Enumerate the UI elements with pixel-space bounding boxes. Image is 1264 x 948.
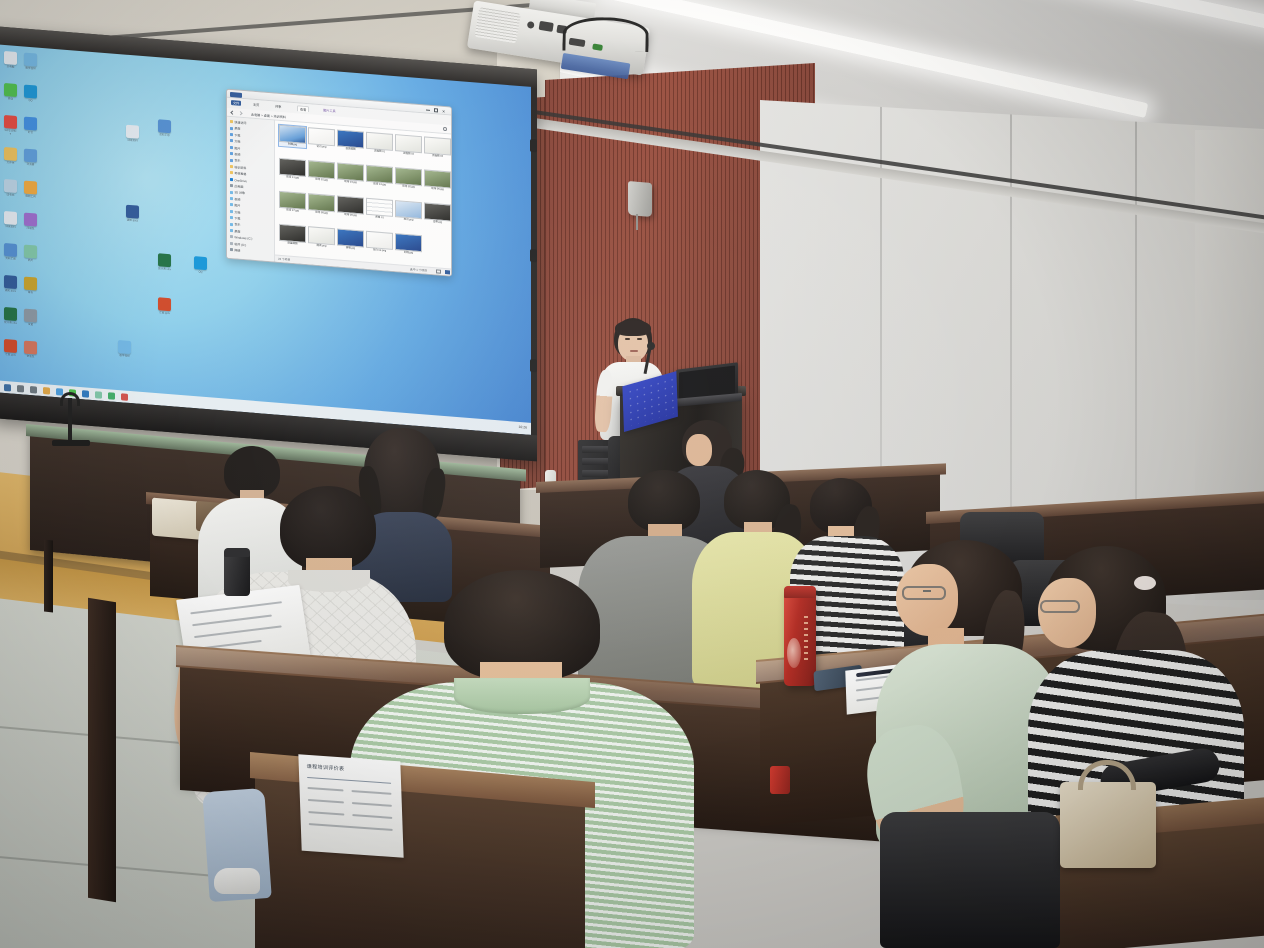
media-icon[interactable] bbox=[121, 393, 128, 401]
wall-speaker bbox=[628, 181, 652, 217]
desktop-icon-label: 此电脑 bbox=[4, 65, 17, 69]
nav-item-label: 网络 bbox=[234, 248, 240, 252]
desktop-icon-glyph bbox=[126, 125, 139, 139]
file-thumbnail bbox=[308, 127, 335, 146]
folder-icon bbox=[230, 139, 233, 142]
folder-icon bbox=[230, 184, 233, 187]
desktop-icon-glyph bbox=[24, 245, 37, 259]
desktop-icon-label: 微信 bbox=[4, 97, 17, 101]
folder-icon bbox=[230, 222, 233, 225]
file-tile[interactable]: 合影.jpg bbox=[424, 202, 451, 225]
desktop-icon-label: 照片 bbox=[24, 259, 37, 263]
search-icon[interactable] bbox=[17, 384, 24, 392]
folder-icon bbox=[230, 171, 233, 174]
nav-item-label: 文档 bbox=[234, 210, 240, 214]
desktop-icon-glyph bbox=[4, 51, 17, 65]
nav-item-label: 音乐 bbox=[234, 159, 240, 163]
thermos-pattern bbox=[804, 616, 808, 662]
file-tile[interactable]: 标识.png bbox=[395, 200, 422, 223]
nav-item-label: 考核表格 bbox=[234, 171, 246, 176]
desktop-icon-label: 安装包 bbox=[24, 355, 37, 359]
desktop-icon-label: 汇报.pptx bbox=[4, 353, 17, 357]
nav-item-label: 视频 bbox=[234, 197, 240, 201]
file-tile[interactable]: 首页截图 bbox=[337, 129, 364, 152]
tab-picture-tools[interactable]: 图片工具 bbox=[323, 107, 336, 113]
tab-home[interactable]: 主页 bbox=[253, 101, 259, 107]
file-thumbnail bbox=[308, 160, 335, 179]
file-thumbnail bbox=[279, 224, 306, 243]
desktop-icon-label: 教学视频 bbox=[24, 67, 37, 71]
folder-icon bbox=[230, 210, 233, 213]
nav-item[interactable]: 下载 bbox=[230, 133, 240, 138]
nav-item-label: 图片 bbox=[234, 146, 240, 150]
desktop-icon-glyph bbox=[158, 253, 171, 267]
desktop-icon[interactable]: 设置 bbox=[24, 309, 37, 327]
file-thumbnail bbox=[308, 226, 335, 245]
nav-item-label: 桌面 bbox=[234, 127, 240, 131]
handout-title: 课程培训评价表 bbox=[307, 763, 345, 773]
file-thumbnail bbox=[279, 125, 306, 144]
handout-document[interactable]: 课程培训评价表 bbox=[298, 754, 403, 857]
desktop-icon[interactable]: 此电脑 bbox=[4, 51, 17, 69]
desktop-icon-label: 统计表.xlsx bbox=[4, 321, 17, 325]
folder-icon bbox=[230, 152, 233, 155]
nav-item-label: 视频 bbox=[234, 152, 240, 156]
desktop-icon-glyph bbox=[24, 341, 37, 355]
nav-item[interactable]: 3D 对象 bbox=[230, 190, 245, 195]
desktop-icon-glyph bbox=[4, 115, 17, 129]
screen-side-clip bbox=[530, 249, 537, 263]
minimize-icon[interactable] bbox=[426, 109, 430, 110]
security-icon[interactable] bbox=[108, 392, 115, 400]
back-arrow-icon[interactable] bbox=[230, 110, 234, 114]
start-icon[interactable] bbox=[4, 383, 11, 391]
file-thumbnail bbox=[366, 132, 393, 151]
file-explorer-icon[interactable] bbox=[43, 387, 50, 395]
nav-item[interactable]: 网络 bbox=[230, 248, 240, 253]
folder-icon bbox=[230, 178, 233, 181]
desktop-icon-glyph bbox=[24, 149, 37, 163]
desktop-icon[interactable]: 通知.docx bbox=[4, 275, 17, 293]
lecture-hall-scene: 此电脑微信WPS Office文件夹回收站训练资料资料汇总通知.docx统计表.… bbox=[0, 0, 1264, 948]
nav-item[interactable]: 文档 bbox=[230, 139, 240, 144]
file-tile[interactable]: 图表.png bbox=[308, 226, 335, 249]
desktop-icon-glyph bbox=[158, 297, 171, 311]
tab-file[interactable]: 文件 bbox=[231, 100, 241, 106]
desktop-icon-glyph bbox=[24, 277, 37, 291]
nav-item-label: OneDrive bbox=[234, 178, 247, 183]
file-tile[interactable]: 封底.jpg bbox=[395, 233, 422, 256]
file-tile[interactable]: 空白 02.png bbox=[366, 231, 393, 254]
file-tile[interactable]: 现场 05.jpg bbox=[395, 167, 422, 190]
file-thumbnail bbox=[337, 129, 364, 148]
file-tile[interactable]: 屏幕截图 bbox=[279, 224, 306, 247]
screen-side-clip bbox=[530, 139, 537, 153]
nav-item[interactable]: 软件 (D:) bbox=[230, 242, 246, 247]
projector-cable bbox=[562, 17, 649, 52]
nav-item[interactable]: 快速访问 bbox=[230, 120, 246, 125]
desktop-icon-label: 截图工具 bbox=[24, 195, 37, 199]
file-tile[interactable]: 空白.png bbox=[308, 127, 335, 150]
file-explorer-window[interactable]: ✕ 文件 主页 共享 查看 图片工具 此电脑 > 桌面 > 培训资料 快速访问桌… bbox=[226, 89, 452, 277]
hair-tie-icon bbox=[1134, 576, 1156, 590]
lectern-microphone-icon bbox=[647, 342, 655, 350]
desktop-icon[interactable]: 截图工具 bbox=[24, 181, 37, 199]
navigation-pane[interactable]: 快速访问桌面下载文档图片视频音乐培训资料考核表格OneDrive此电脑3D 对象… bbox=[227, 117, 275, 264]
attendee-collar bbox=[454, 678, 590, 714]
microphone-base bbox=[52, 440, 90, 446]
desktop-icon[interactable]: 回收站 bbox=[4, 179, 17, 197]
desktop-icon-glyph bbox=[4, 83, 17, 97]
file-tile[interactable]: 现场 06.jpg bbox=[424, 169, 451, 192]
nav-item[interactable]: 音乐 bbox=[230, 158, 240, 163]
nav-item[interactable]: 音乐 bbox=[230, 222, 240, 227]
attendee-face bbox=[896, 564, 958, 636]
file-tile[interactable]: 流程图 02 bbox=[395, 134, 422, 157]
desktop-icon[interactable]: 钉钉 bbox=[24, 117, 37, 135]
file-tile[interactable]: 现场 07.jpg bbox=[279, 191, 306, 214]
attendee-face bbox=[1038, 578, 1096, 648]
tab-share[interactable]: 共享 bbox=[275, 103, 281, 109]
desktop-icon-label: 压缩包 bbox=[24, 227, 37, 231]
file-tile[interactable]: 流程图 03 bbox=[424, 136, 451, 159]
file-thumbnail bbox=[366, 198, 393, 217]
desktop-icon-label: 训练资料 bbox=[126, 139, 139, 143]
folder-icon bbox=[230, 120, 233, 123]
eyeglasses-bridge bbox=[923, 590, 931, 592]
tab-view[interactable]: 查看 bbox=[297, 105, 309, 112]
desktop-icon-glyph bbox=[4, 147, 17, 161]
file-thumbnail bbox=[366, 231, 393, 250]
nav-item[interactable]: 图片 bbox=[230, 203, 240, 208]
file-thumbnail bbox=[424, 136, 451, 155]
desktop-icon-label: QQ bbox=[194, 270, 207, 274]
nav-item-label: 下载 bbox=[234, 216, 240, 220]
file-tile[interactable]: 表格 01 bbox=[366, 198, 393, 221]
desktop-icon-glyph bbox=[4, 243, 17, 257]
desktop-icon-label: 通知.docx bbox=[4, 289, 17, 293]
desktop-icon[interactable]: 照片 bbox=[24, 245, 37, 263]
mail-icon[interactable] bbox=[82, 390, 89, 398]
desktop-icon-glyph bbox=[24, 181, 37, 195]
desktop-icon-label: 浏览器 bbox=[24, 163, 37, 167]
file-thumbnail bbox=[424, 202, 451, 221]
desktop-icon[interactable]: 汇报.pptx bbox=[158, 297, 171, 315]
folder-icon bbox=[230, 229, 233, 232]
nav-item[interactable]: 文档 bbox=[230, 210, 240, 215]
screen-side-clip bbox=[530, 359, 537, 373]
nav-item-label: Windows (C:) bbox=[234, 235, 252, 240]
desktop-icon-label: 文件夹 bbox=[4, 161, 17, 165]
desktop-icon[interactable]: 通知.docx bbox=[126, 205, 139, 223]
projector-vent-icon bbox=[475, 7, 521, 43]
nav-item[interactable]: Windows (C:) bbox=[230, 235, 252, 241]
file-thumbnail bbox=[395, 134, 422, 153]
close-icon[interactable]: ✕ bbox=[442, 108, 447, 113]
desktop-icon[interactable]: 教学视频 bbox=[118, 340, 131, 358]
file-thumbnail bbox=[424, 169, 451, 188]
folder-icon bbox=[230, 235, 233, 238]
desktop-icon[interactable]: 安装包 bbox=[24, 341, 37, 359]
status-selection: 选中 1 个项目 bbox=[410, 268, 427, 273]
details-view-icon[interactable] bbox=[436, 270, 441, 274]
presenter-eye bbox=[625, 338, 630, 340]
file-tile[interactable]: 封面.jpg bbox=[279, 125, 306, 148]
file-tile[interactable]: 现场 03.jpg bbox=[337, 162, 364, 185]
large-icons-view-icon[interactable] bbox=[445, 270, 450, 274]
nav-item[interactable]: 视频 bbox=[230, 197, 240, 202]
projection-screen[interactable]: 此电脑微信WPS Office文件夹回收站训练资料资料汇总通知.docx统计表.… bbox=[0, 26, 537, 461]
presenter-eye bbox=[637, 338, 642, 340]
desk-side-panel bbox=[88, 598, 116, 902]
attendee-shoe bbox=[214, 868, 260, 894]
explorer-app-icon bbox=[230, 92, 242, 98]
nav-item-label: 图片 bbox=[234, 203, 240, 207]
nav-item[interactable]: 培训资料 bbox=[230, 165, 246, 170]
presenter-hair-front bbox=[615, 320, 651, 336]
desktop-icon[interactable]: 微信 bbox=[4, 83, 17, 101]
folder-icon bbox=[230, 248, 233, 251]
folder-icon bbox=[230, 197, 233, 200]
file-tile[interactable]: 现场 09.jpg bbox=[337, 195, 364, 218]
search-icon[interactable] bbox=[443, 127, 447, 131]
attendee-face bbox=[686, 434, 712, 466]
file-tile[interactable]: 现场 08.jpg bbox=[308, 193, 335, 216]
desktop-icon-glyph bbox=[4, 307, 17, 321]
black-tumbler[interactable] bbox=[224, 548, 250, 596]
file-thumbnail bbox=[337, 228, 364, 247]
desktop-icon[interactable]: 资料汇总 bbox=[158, 119, 171, 137]
office-chair bbox=[880, 812, 1060, 948]
nav-item[interactable]: 桌面 bbox=[230, 126, 240, 131]
desktop-icon-label: 备份 bbox=[24, 291, 37, 295]
desktop-icon-label: WPS Office bbox=[4, 129, 17, 136]
folder-icon bbox=[230, 133, 233, 136]
red-thermos[interactable] bbox=[784, 586, 816, 686]
nav-item[interactable]: 桌面 bbox=[230, 229, 240, 234]
table-leg bbox=[44, 540, 53, 613]
tumbler-lid bbox=[224, 548, 250, 557]
folder-icon bbox=[230, 126, 233, 129]
desktop-icon-glyph bbox=[194, 256, 207, 270]
file-tile[interactable]: 流程图 01 bbox=[366, 132, 393, 155]
desktop-icon[interactable]: 训练资料 bbox=[126, 125, 139, 143]
nav-item-label: 3D 对象 bbox=[234, 191, 245, 196]
file-thumbnail bbox=[337, 162, 364, 181]
folder-icon bbox=[230, 158, 233, 161]
handbag bbox=[1060, 782, 1156, 868]
eyeglasses-icon bbox=[902, 586, 946, 600]
nav-item-label: 文档 bbox=[234, 139, 240, 143]
desktop-icon-glyph bbox=[158, 119, 171, 133]
desktop-icon-glyph bbox=[126, 205, 139, 219]
desktop-icon-glyph bbox=[24, 53, 37, 67]
photos-icon[interactable] bbox=[95, 391, 102, 399]
file-thumbnail bbox=[308, 193, 335, 212]
folder-icon bbox=[230, 203, 233, 206]
desktop-icon[interactable]: 汇报.pptx bbox=[4, 339, 17, 357]
desktop-icon-glyph bbox=[24, 85, 37, 99]
desktop-icon-glyph bbox=[4, 275, 17, 289]
screen-surface[interactable]: 此电脑微信WPS Office文件夹回收站训练资料资料汇总通知.docx统计表.… bbox=[0, 44, 531, 434]
folder-icon bbox=[230, 190, 233, 193]
thermos-floral-icon bbox=[787, 638, 801, 668]
eyeglasses-icon bbox=[1040, 600, 1080, 613]
microphone-icon bbox=[60, 392, 80, 406]
desktop-icon[interactable]: QQ bbox=[194, 256, 207, 274]
forward-arrow-icon[interactable] bbox=[238, 111, 242, 115]
desktop-icon[interactable]: QQ bbox=[24, 85, 37, 103]
nav-item[interactable]: OneDrive bbox=[230, 178, 247, 183]
nav-item-label: 培训资料 bbox=[234, 165, 246, 170]
desktop-icon[interactable]: WPS Office bbox=[4, 115, 17, 136]
nav-item[interactable]: 视频 bbox=[230, 152, 240, 157]
presenter-mouth bbox=[630, 350, 638, 352]
desktop-icon-label: 资料汇总 bbox=[158, 133, 171, 137]
nav-item-label: 下载 bbox=[234, 133, 240, 137]
desktop-icon-glyph bbox=[4, 211, 17, 225]
desktop-icon-label: 资料汇总 bbox=[4, 257, 17, 261]
file-tile[interactable]: 展板.jpg bbox=[337, 228, 364, 251]
desktop-icon-glyph bbox=[4, 339, 17, 353]
folder-icon bbox=[230, 165, 233, 168]
desktop-icon-label: QQ bbox=[24, 99, 37, 103]
nav-item-label: 快速访问 bbox=[234, 120, 246, 125]
folder-icon bbox=[230, 146, 233, 149]
maximize-icon[interactable] bbox=[434, 108, 438, 112]
file-thumbnail bbox=[395, 167, 422, 186]
desktop-icon-label: 钉钉 bbox=[24, 131, 37, 135]
desktop-icon[interactable]: 资料汇总 bbox=[4, 243, 17, 261]
desktop-icon[interactable]: 教学视频 bbox=[24, 53, 37, 71]
desktop-icon[interactable]: 浏览器 bbox=[24, 149, 37, 167]
desktop-icon-label: 汇报.pptx bbox=[158, 311, 171, 315]
desktop-icon-glyph bbox=[118, 340, 131, 354]
desktop-icon[interactable]: 备份 bbox=[24, 277, 37, 295]
desktop-icon-glyph bbox=[24, 309, 37, 323]
desktop-icon-label: 回收站 bbox=[4, 193, 17, 197]
file-tiles-pane[interactable]: 封面.jpg空白.png首页截图流程图 01流程图 02流程图 03现场 01.… bbox=[275, 121, 452, 277]
desktop-icon-label: 训练资料 bbox=[4, 225, 17, 229]
nav-item[interactable]: 图片 bbox=[230, 146, 240, 151]
desktop-icon[interactable]: 统计表.xlsx bbox=[158, 253, 171, 271]
desktop-icon[interactable]: 压缩包 bbox=[24, 213, 37, 231]
desktop-icon[interactable]: 训练资料 bbox=[4, 211, 17, 229]
desktop-icon-label: 教学视频 bbox=[118, 354, 131, 358]
desktop-icon-label: 通知.docx bbox=[126, 219, 139, 223]
desktop-icon[interactable]: 文件夹 bbox=[4, 147, 17, 165]
task-view-icon[interactable] bbox=[30, 386, 37, 394]
folder-icon bbox=[230, 242, 233, 245]
nav-item-label: 音乐 bbox=[234, 223, 240, 227]
nav-item-label: 此电脑 bbox=[234, 184, 243, 189]
speaker-cable bbox=[636, 214, 638, 230]
file-thumbnail bbox=[395, 233, 422, 252]
file-thumbnail bbox=[366, 165, 393, 184]
nav-item[interactable]: 考核表格 bbox=[230, 171, 246, 176]
desktop-icon-label: 设置 bbox=[24, 323, 37, 327]
folder-icon bbox=[230, 216, 233, 219]
desktop-icon-glyph bbox=[24, 213, 37, 227]
thermos-lid bbox=[784, 586, 816, 598]
desktop-icon-glyph bbox=[24, 117, 37, 131]
desktop-icon[interactable]: 统计表.xlsx bbox=[4, 307, 17, 325]
nav-item-label: 桌面 bbox=[234, 229, 240, 233]
nav-item[interactable]: 此电脑 bbox=[230, 184, 243, 189]
file-tile[interactable]: 现场 01.jpg bbox=[279, 158, 306, 181]
thermos-cap-small[interactable] bbox=[770, 766, 790, 794]
nav-item[interactable]: 下载 bbox=[230, 216, 240, 221]
file-tile[interactable]: 现场 04.jpg bbox=[366, 165, 393, 188]
file-thumbnail bbox=[279, 191, 306, 210]
nav-item-label: 软件 (D:) bbox=[234, 242, 246, 247]
file-thumbnail bbox=[395, 200, 422, 219]
desktop-icon-glyph bbox=[4, 179, 17, 193]
status-item-count: 23 个项目 bbox=[278, 257, 290, 262]
taskbar-clock: 10:26 bbox=[519, 425, 528, 430]
file-tile[interactable]: 现场 02.jpg bbox=[308, 160, 335, 183]
file-thumbnail bbox=[337, 195, 364, 214]
desktop-icon-label: 统计表.xlsx bbox=[158, 267, 171, 271]
file-thumbnail bbox=[279, 158, 306, 177]
